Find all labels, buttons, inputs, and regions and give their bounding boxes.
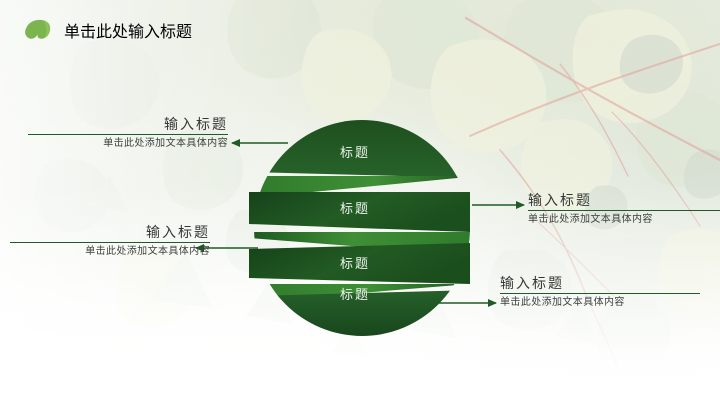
callout-left-2-rule	[10, 242, 210, 243]
callout-left-1-title: 输入标题	[28, 116, 228, 133]
callout-right-1-title: 输入标题	[528, 192, 720, 209]
callout-right-2-body: 单击此处添加文本具体内容	[500, 296, 700, 310]
callout-left-1-rule	[28, 134, 228, 135]
callout-left-1-body: 单击此处添加文本具体内容	[28, 137, 228, 151]
callout-right-2-rule	[500, 293, 700, 294]
callout-left-2[interactable]: 输入标题 单击此处添加文本具体内容	[10, 224, 210, 259]
callout-right-2[interactable]: 输入标题 单击此处添加文本具体内容	[500, 275, 700, 310]
callout-right-2-title: 输入标题	[500, 275, 700, 292]
band-label-3: 标题	[340, 256, 370, 271]
diagram-band-1[interactable]	[250, 110, 478, 178]
callout-right-1[interactable]: 输入标题 单击此处添加文本具体内容	[528, 192, 720, 227]
callout-right-1-body: 单击此处添加文本具体内容	[528, 213, 720, 227]
band-label-4: 标题	[340, 287, 370, 302]
band-label-2: 标题	[340, 201, 370, 216]
callout-left-2-title: 输入标题	[10, 224, 210, 241]
callout-left-2-body: 单击此处添加文本具体内容	[10, 245, 210, 259]
band-label-1: 标题	[340, 145, 370, 160]
callout-left-1[interactable]: 输入标题 单击此处添加文本具体内容	[28, 116, 228, 151]
slide-canvas: 单击此处输入标题	[0, 0, 720, 405]
callout-right-1-rule	[528, 210, 720, 211]
